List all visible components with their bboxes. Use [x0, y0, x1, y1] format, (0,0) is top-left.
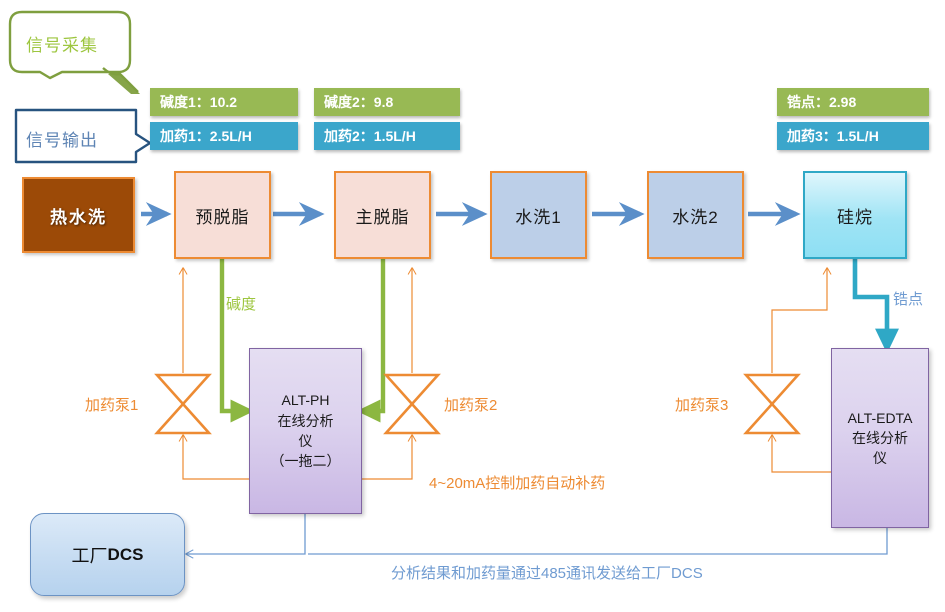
- readout-dosing-station-1: 加药1：2.5L/H: [150, 122, 298, 150]
- process-box-water-rinse-2[interactable]: 水洗2: [647, 171, 744, 259]
- analyzer-alt-edta-line-3: 仪: [873, 448, 887, 468]
- dcs-comm-lines: [186, 514, 887, 554]
- pump-label-dosing-pump-1: 加药泵1: [85, 394, 138, 415]
- process-box-water-rinse-1[interactable]: 水洗1: [490, 171, 587, 259]
- valve-symbol-3: [746, 375, 798, 433]
- signal-label-alkalinity: 碱度: [226, 293, 256, 314]
- signal-line-zirconium: [855, 259, 887, 348]
- analyzer-alt-edta-line-1: ALT-EDTA: [848, 408, 913, 428]
- readout-dosing-station-2: 加药2：1.5L/H: [314, 122, 460, 150]
- signal-line-alkalinity-1: [222, 259, 249, 411]
- readout-group-station-2: 碱度2：9.8 加药2：1.5L/H: [314, 88, 460, 150]
- control-loop-3: [772, 268, 831, 472]
- analyzer-alt-ph-line-2: 在线分析: [278, 411, 334, 431]
- process-box-hot-water-wash[interactable]: 热水洗: [22, 177, 135, 253]
- annotation-control-note: 4~20mA控制加药自动补药: [429, 472, 605, 493]
- signal-label-zirconium: 锆点: [893, 288, 923, 309]
- annotation-dcs-note: 分析结果和加药量通过485通讯发送给工厂DCS: [391, 562, 703, 583]
- readout-measure-station-3: 锆点：2.98: [777, 88, 929, 116]
- dcs-box-factory[interactable]: 工厂DCS: [30, 513, 185, 596]
- readout-measure-station-2: 碱度2：9.8: [314, 88, 460, 116]
- analyzer-box-alt-edta[interactable]: ALT-EDTA 在线分析 仪: [831, 348, 929, 528]
- analyzer-alt-ph-line-4: （一拖二）: [271, 451, 341, 471]
- process-box-pre-degrease[interactable]: 预脱脂: [174, 171, 271, 259]
- readout-dosing-station-3: 加药3：1.5L/H: [777, 122, 929, 150]
- readout-group-station-3: 锆点：2.98 加药3：1.5L/H: [777, 88, 929, 150]
- analyzer-alt-edta-line-2: 在线分析: [852, 428, 908, 448]
- process-box-main-degrease[interactable]: 主脱脂: [334, 171, 431, 259]
- diagram-canvas: 信号采集 信号输出 碱度1：10.2 加药1：2.5L/H 碱度2：9.8 加药…: [0, 0, 945, 612]
- pump-label-dosing-pump-2: 加药泵2: [444, 394, 497, 415]
- control-loop-2: [362, 268, 412, 479]
- valve-symbol-1: [157, 375, 209, 433]
- readout-measure-station-1: 碱度1：10.2: [150, 88, 298, 116]
- valve-symbol-2: [386, 375, 438, 433]
- readout-group-station-1: 碱度1：10.2 加药1：2.5L/H: [150, 88, 298, 150]
- analyzer-box-alt-ph[interactable]: ALT-PH 在线分析 仪 （一拖二）: [249, 348, 362, 514]
- dcs-label-latin: DCS: [108, 545, 144, 565]
- callout-label-signal-acquisition: 信号采集: [26, 31, 98, 56]
- analyzer-alt-ph-line-1: ALT-PH: [282, 390, 330, 410]
- process-box-silane[interactable]: 硅烷: [803, 171, 907, 259]
- pump-label-dosing-pump-3: 加药泵3: [675, 394, 728, 415]
- signal-line-alkalinity-2: [362, 259, 383, 411]
- dcs-label-cjk: 工厂: [72, 542, 108, 568]
- callout-label-signal-output: 信号输出: [26, 126, 98, 151]
- analyzer-alt-ph-line-3: 仪: [299, 431, 313, 451]
